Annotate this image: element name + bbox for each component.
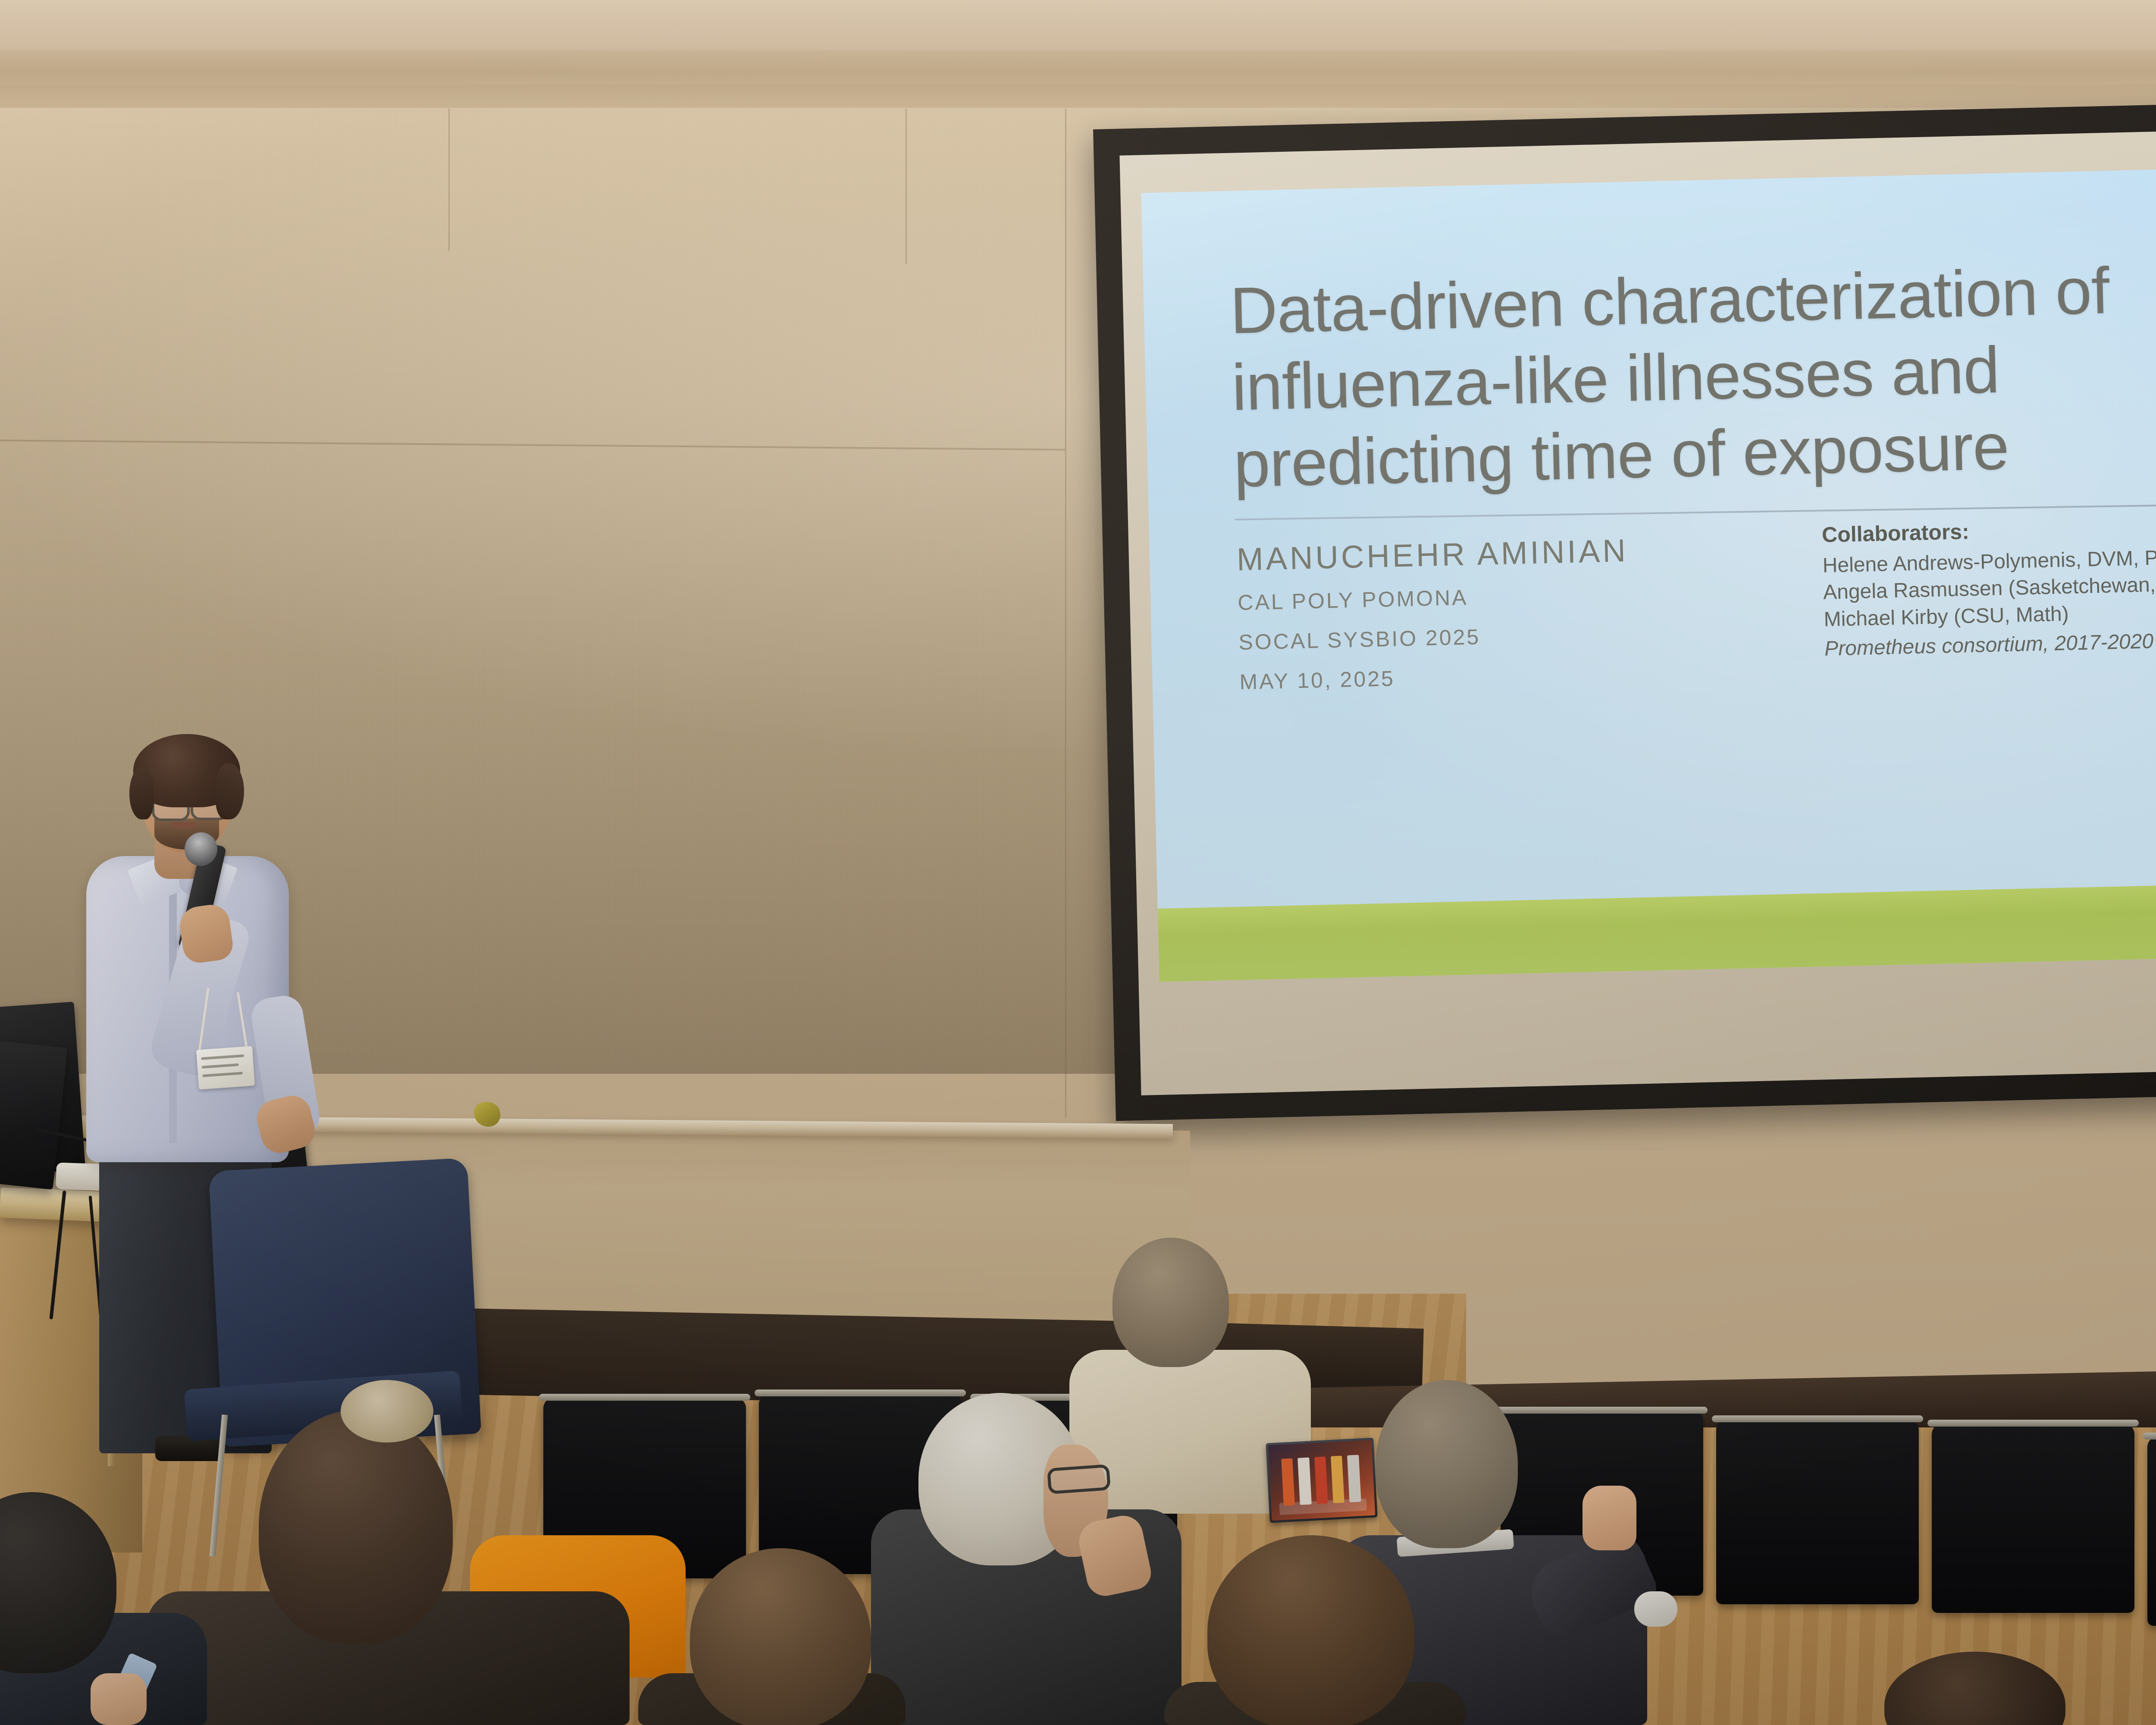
attendee-hawaiian-shirt-head — [1112, 1238, 1229, 1367]
laptop-icon — [1331, 1456, 1344, 1503]
seat-rim — [1496, 1407, 1708, 1414]
badge-text-line — [202, 1072, 243, 1077]
attendee-suit-raised-hand — [1583, 1486, 1636, 1550]
laptop-icon — [1347, 1455, 1361, 1502]
laptop-icon — [1314, 1457, 1328, 1504]
collaborators-heading: Collaborators: — [1821, 506, 2156, 548]
seat-rim — [539, 1394, 750, 1401]
wall-seam — [448, 109, 450, 251]
attendee-laptop[interactable] — [1266, 1438, 1377, 1523]
auditorium-seat[interactable] — [1932, 1423, 2134, 1613]
slide-date: MAY 10, 2025 — [1239, 657, 1779, 695]
presenter-hair-side-left — [129, 768, 154, 819]
attendee-front-right-head — [1207, 1535, 1414, 1725]
projection-screen-surface: Data-driven characterization of influenz… — [1119, 122, 2156, 1095]
laptop-icon — [1281, 1458, 1295, 1506]
slide-author-block: MANUCHEHR AMINIAN CAL POLY POMONA SOCAL … — [1236, 531, 1779, 695]
wall-seam — [1065, 109, 1066, 1118]
attendee-front-center-head — [690, 1548, 871, 1725]
attendee-laptop-screen — [1268, 1440, 1376, 1521]
name-badge — [196, 1046, 255, 1090]
attendee-front-left-hand — [91, 1673, 147, 1725]
seat-rim — [2143, 1433, 2156, 1440]
presentation-slide: Data-driven characterization of influenz… — [1141, 161, 2156, 982]
laptop-icon — [1297, 1458, 1311, 1505]
badge-text-line — [202, 1063, 239, 1069]
presenter-shoe — [155, 1436, 224, 1461]
slide-venue: SOCAL SYSBIO 2025 — [1238, 618, 1778, 655]
slide-collaborators-block: Collaborators: Helene Andrews-Polymenis,… — [1821, 506, 2156, 663]
wall-seam — [906, 109, 907, 264]
lecture-hall-scene: Data-driven characterization of influenz… — [0, 0, 2156, 1725]
seat-rim — [1927, 1420, 2139, 1427]
slide-affiliation: CAL POLY POMONA — [1238, 578, 1777, 615]
attendee-glasses — [1047, 1464, 1111, 1494]
ceiling-beam — [0, 51, 2156, 86]
attendee-hair-bun — [341, 1380, 433, 1443]
slide-presenter-name: MANUCHEHR AMINIAN — [1236, 531, 1776, 576]
presenter-mouth — [172, 822, 196, 828]
ceiling — [0, 0, 2156, 52]
attendee-bun-head — [259, 1410, 453, 1643]
seat-rim — [1712, 1415, 1923, 1422]
projection-screen-frame: Data-driven characterization of influenz… — [1093, 95, 2156, 1121]
slide-accent-band — [1158, 876, 2156, 982]
seat-rim — [755, 1389, 966, 1396]
auditorium-seat[interactable] — [1716, 1419, 1919, 1604]
attendee-suit-cuff — [1634, 1591, 1677, 1627]
attendee-suit-head — [1376, 1380, 1518, 1548]
presenter-hair-side-right — [216, 763, 244, 819]
wall-soffit — [0, 85, 2156, 110]
badge-text-line — [201, 1054, 244, 1060]
auditorium-seat[interactable] — [2147, 1436, 2156, 1626]
slide-title: Data-driven characterization of influenz… — [1229, 248, 2156, 503]
